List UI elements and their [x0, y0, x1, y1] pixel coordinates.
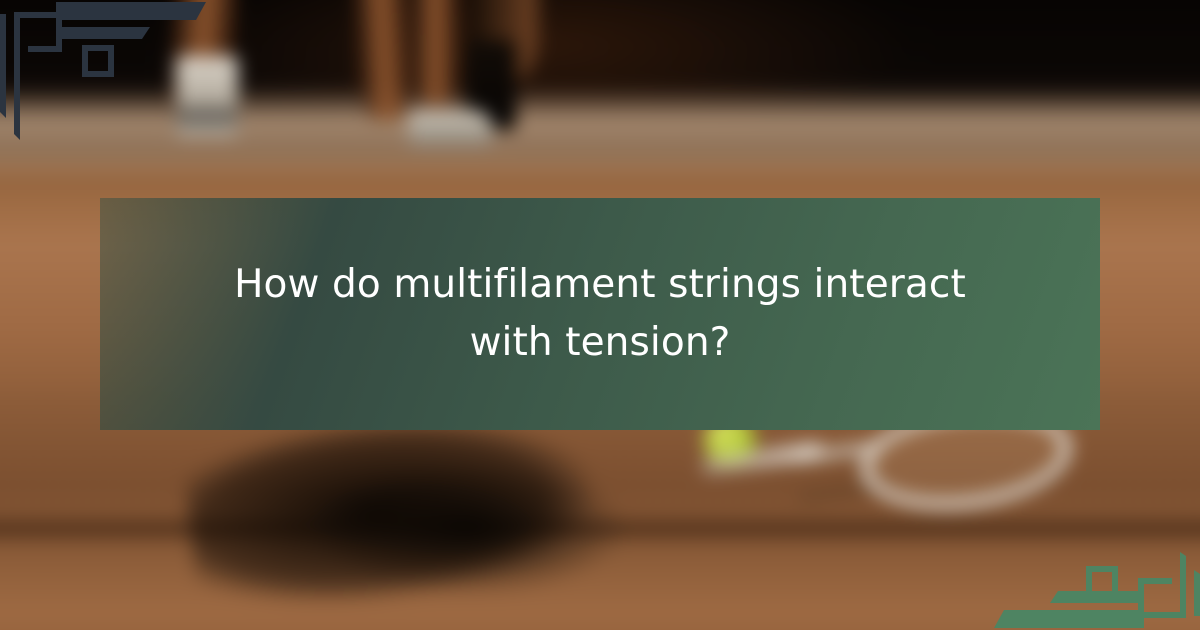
player-sock	[176, 56, 238, 136]
foreground-shadow	[260, 428, 680, 628]
page-title: How do multifilament strings interact wi…	[220, 256, 980, 372]
share-card-canvas: How do multifilament strings interact wi…	[0, 0, 1200, 630]
player-leg	[412, 0, 458, 105]
headline-card-inner: How do multifilament strings interact wi…	[220, 256, 980, 372]
player-shoe	[408, 110, 494, 146]
headline-card: How do multifilament strings interact wi…	[100, 198, 1100, 430]
